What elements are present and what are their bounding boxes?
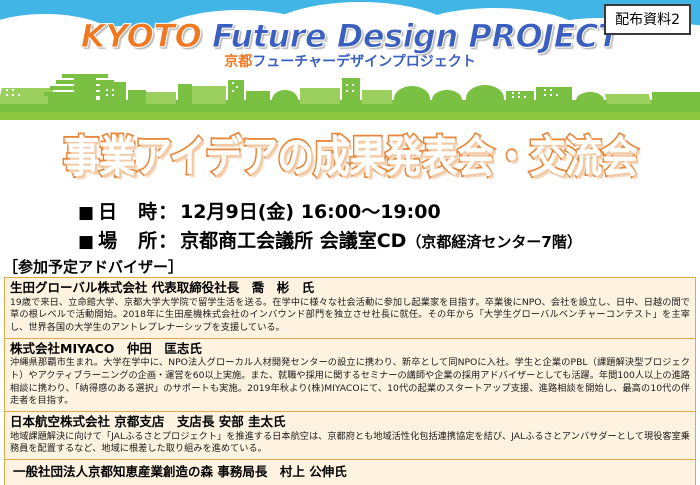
advisor-row: 生田グローバル株式会社 代表取締役社長 喬 彬 氏 19歳で来日、立命館大学、京… xyxy=(5,278,695,339)
advisor-row: 株式会社MIYACO 仲田 匡志氏 沖縄県那覇市生まれ。大学在学中に、NPO法人… xyxy=(5,339,695,412)
event-info-block: ■ 日 時： 12月9日(金) 16:00～19:00 ■ 場 所： 京都商工会… xyxy=(78,197,582,255)
event-headline-text: 事業アイデアの成果発表会・交流会 xyxy=(63,121,637,185)
city-skyline-graphic xyxy=(0,74,700,122)
advisor-row: 一般社団法人京都知恵産業創造の森 事務局長 村上 公伸氏 xyxy=(5,460,695,485)
banner-title-group: KYOTO Future Design PROJECT 京都フューチャーデザイン… xyxy=(0,20,700,69)
advisor-bio: 沖縄県那覇市生まれ。大学在学中に、NPO法人グローカル人材開発センターの設立に携… xyxy=(10,357,690,408)
event-info-row-date: ■ 日 時： 12月9日(金) 16:00～19:00 xyxy=(78,197,582,224)
event-venue-label: 場 所： xyxy=(98,226,178,253)
advisors-table: 生田グローバル株式会社 代表取締役社長 喬 彬 氏 19歳で来日、立命館大学、京… xyxy=(4,277,696,485)
banner-subtitle: 京都フューチャーデザインプロジェクト xyxy=(0,55,700,69)
header-banner: KYOTO Future Design PROJECT 京都フューチャーデザイン… xyxy=(0,0,700,122)
advisor-bio: 19歳で来日、立命館大学、京都大学大学院で留学生活を送る。在学中に様々な社会活動… xyxy=(10,297,690,335)
event-date-label: 日 時： xyxy=(98,197,178,224)
advisors-heading: ［参加予定アドバイザー］ xyxy=(3,256,183,277)
banner-title: KYOTO Future Design PROJECT xyxy=(0,20,700,52)
event-headline: 事業アイデアの成果発表会・交流会 xyxy=(0,126,700,188)
banner-subtitle-secondary: フューチャーデザインプロジェクト xyxy=(252,54,475,70)
advisor-name: 株式会社MIYACO 仲田 匡志氏 xyxy=(10,341,690,357)
advisor-row: 日本航空株式会社 京都支店 支店長 安部 圭太氏 地域課題解決に向けて「JALふ… xyxy=(5,412,695,460)
advisor-bio: 地域課題解決に向けて「JALふるさとプロジェクト」を推進する日本航空は、京都府と… xyxy=(10,431,690,456)
banner-title-secondary: Future Design PROJECT xyxy=(201,17,619,55)
banner-subtitle-primary: 京都 xyxy=(224,54,252,70)
advisor-name: 日本航空株式会社 京都支店 支店長 安部 圭太氏 xyxy=(10,414,690,430)
event-info-row-venue: ■ 場 所： 京都商工会議所 会議室CD （京都経済センター7階） xyxy=(78,226,582,253)
document-page: KYOTO Future Design PROJECT 京都フューチャーデザイン… xyxy=(0,0,700,485)
advisor-name: 一般社団法人京都知恵産業創造の森 事務局長 村上 公伸氏 xyxy=(13,464,690,480)
handout-number-badge: 配布資料2 xyxy=(604,4,691,35)
bullet-square-icon: ■ xyxy=(78,205,94,222)
advisor-name: 生田グローバル株式会社 代表取締役社長 喬 彬 氏 xyxy=(10,280,690,296)
banner-title-primary: KYOTO xyxy=(81,17,202,55)
event-venue-value: 京都商工会議所 会議室CD xyxy=(180,226,406,253)
bullet-square-icon: ■ xyxy=(78,234,94,251)
event-venue-note: （京都経済センター7階） xyxy=(406,231,581,252)
event-date-value: 12月9日(金) 16:00～19:00 xyxy=(180,197,441,224)
